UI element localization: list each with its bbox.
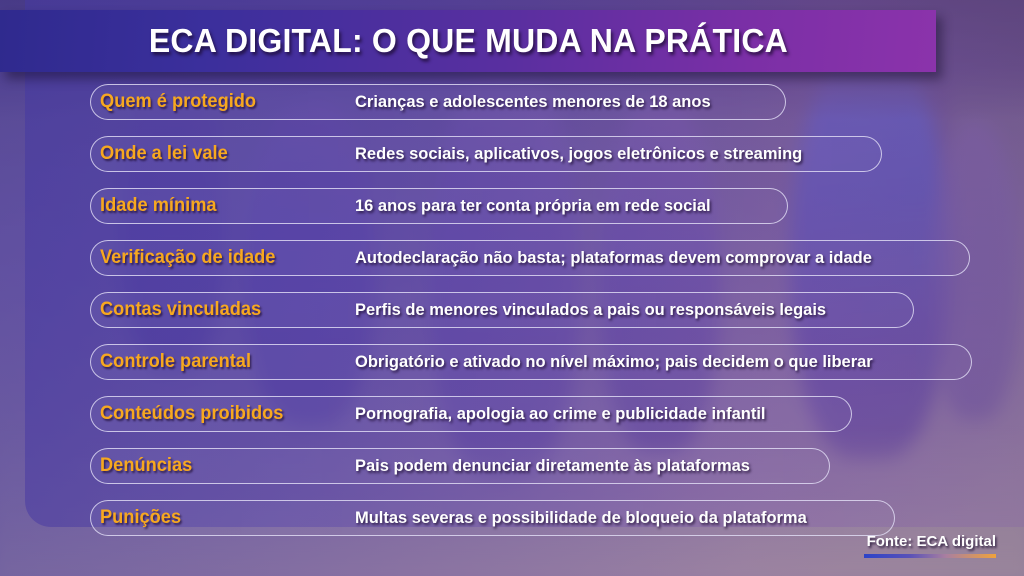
- fact-label: Quem é protegido: [100, 84, 256, 120]
- table-row: DenúnciasPais podem denunciar diretament…: [0, 448, 1024, 484]
- fact-value: Autodeclaração não basta; plataformas de…: [355, 240, 872, 276]
- fact-value: Redes sociais, aplicativos, jogos eletrô…: [355, 136, 802, 172]
- fact-value: Crianças e adolescentes menores de 18 an…: [355, 84, 711, 120]
- fact-value: Pais podem denunciar diretamente às plat…: [355, 448, 750, 484]
- fact-value: Pornografia, apologia ao crime e publici…: [355, 396, 765, 432]
- table-row: Quem é protegidoCrianças e adolescentes …: [0, 84, 1024, 120]
- fact-value: Perfis de menores vinculados a pais ou r…: [355, 292, 826, 328]
- fact-row-list: Quem é protegidoCrianças e adolescentes …: [0, 84, 1024, 552]
- fact-label: Denúncias: [100, 448, 192, 484]
- table-row: Verificação de idadeAutodeclaração não b…: [0, 240, 1024, 276]
- fact-value: 16 anos para ter conta própria em rede s…: [355, 188, 711, 224]
- fact-label: Onde a lei vale: [100, 136, 228, 172]
- table-row: Contas vinculadasPerfis de menores vincu…: [0, 292, 1024, 328]
- fact-label: Idade mínima: [100, 188, 217, 224]
- table-row: Onde a lei valeRedes sociais, aplicativo…: [0, 136, 1024, 172]
- source-underline-rule: [864, 554, 996, 558]
- table-row: PuniçõesMultas severas e possibilidade d…: [0, 500, 1024, 536]
- fact-label: Punições: [100, 500, 181, 536]
- source-label: Fonte: ECA digital: [864, 533, 996, 550]
- fact-value: Obrigatório e ativado no nível máximo; p…: [355, 344, 873, 380]
- page-title: ECA DIGITAL: O QUE MUDA NA PRÁTICA: [148, 22, 787, 60]
- fact-label: Verificação de idade: [100, 240, 275, 276]
- infographic-stage: ECA DIGITAL: O QUE MUDA NA PRÁTICA Quem …: [0, 0, 1024, 576]
- fact-value: Multas severas e possibilidade de bloque…: [355, 500, 807, 536]
- title-banner: ECA DIGITAL: O QUE MUDA NA PRÁTICA: [0, 10, 936, 72]
- fact-label: Conteúdos proibidos: [100, 396, 283, 432]
- table-row: Idade mínima16 anos para ter conta própr…: [0, 188, 1024, 224]
- fact-label: Contas vinculadas: [100, 292, 261, 328]
- fact-label: Controle parental: [100, 344, 251, 380]
- table-row: Conteúdos proibidosPornografia, apologia…: [0, 396, 1024, 432]
- source-footer: Fonte: ECA digital: [864, 533, 996, 558]
- table-row: Controle parentalObrigatório e ativado n…: [0, 344, 1024, 380]
